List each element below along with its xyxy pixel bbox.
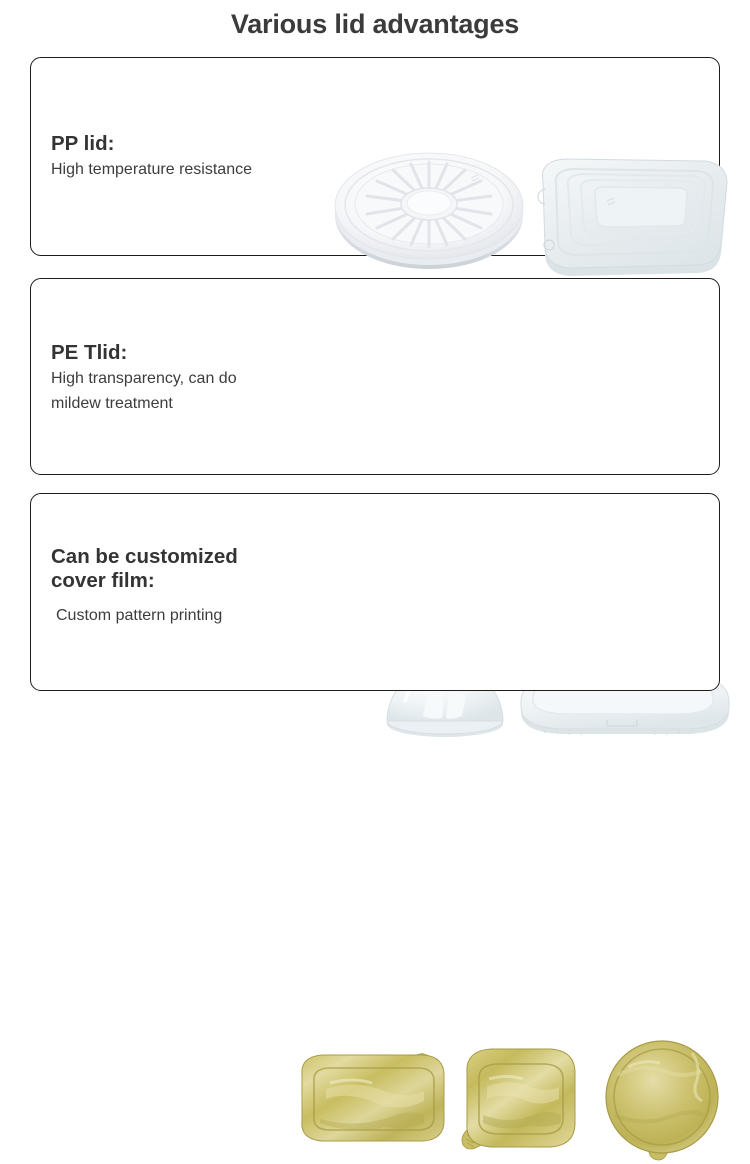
card-pe-subtitle: High transparency, can do mildew treatme… xyxy=(51,366,237,416)
card-pp-lid: PP lid: High temperature resistance xyxy=(30,57,720,256)
card-pp-text-block: PP lid: High temperature resistance xyxy=(51,132,252,182)
card-foil-text-block: Can be customized cover film: Custom pat… xyxy=(51,545,238,628)
page-title: Various lid advantages xyxy=(0,9,750,40)
card-foil-subtitle: Custom pattern printing xyxy=(56,603,238,628)
card-pp-subtitle: High temperature resistance xyxy=(51,157,252,182)
card-foil-lid: Can be customized cover film: Custom pat… xyxy=(30,493,720,691)
card-foil-heading: Can be customized cover film: xyxy=(51,545,238,593)
rectangular-pp-lid-image xyxy=(523,141,738,276)
gold-square-foil-lid-image xyxy=(459,1043,584,1158)
card-pp-heading: PP lid: xyxy=(51,132,252,156)
gold-round-foil-lid-image xyxy=(594,1039,734,1164)
round-pp-lid-image xyxy=(331,144,541,279)
card-pe-heading: PE Tlid: xyxy=(51,341,237,365)
gold-rectangular-foil-lid-image xyxy=(296,1045,456,1155)
card-pe-text-block: PE Tlid: High transparency, can do milde… xyxy=(51,341,237,416)
card-pe-lid: PE Tlid: High transparency, can do milde… xyxy=(30,278,720,475)
